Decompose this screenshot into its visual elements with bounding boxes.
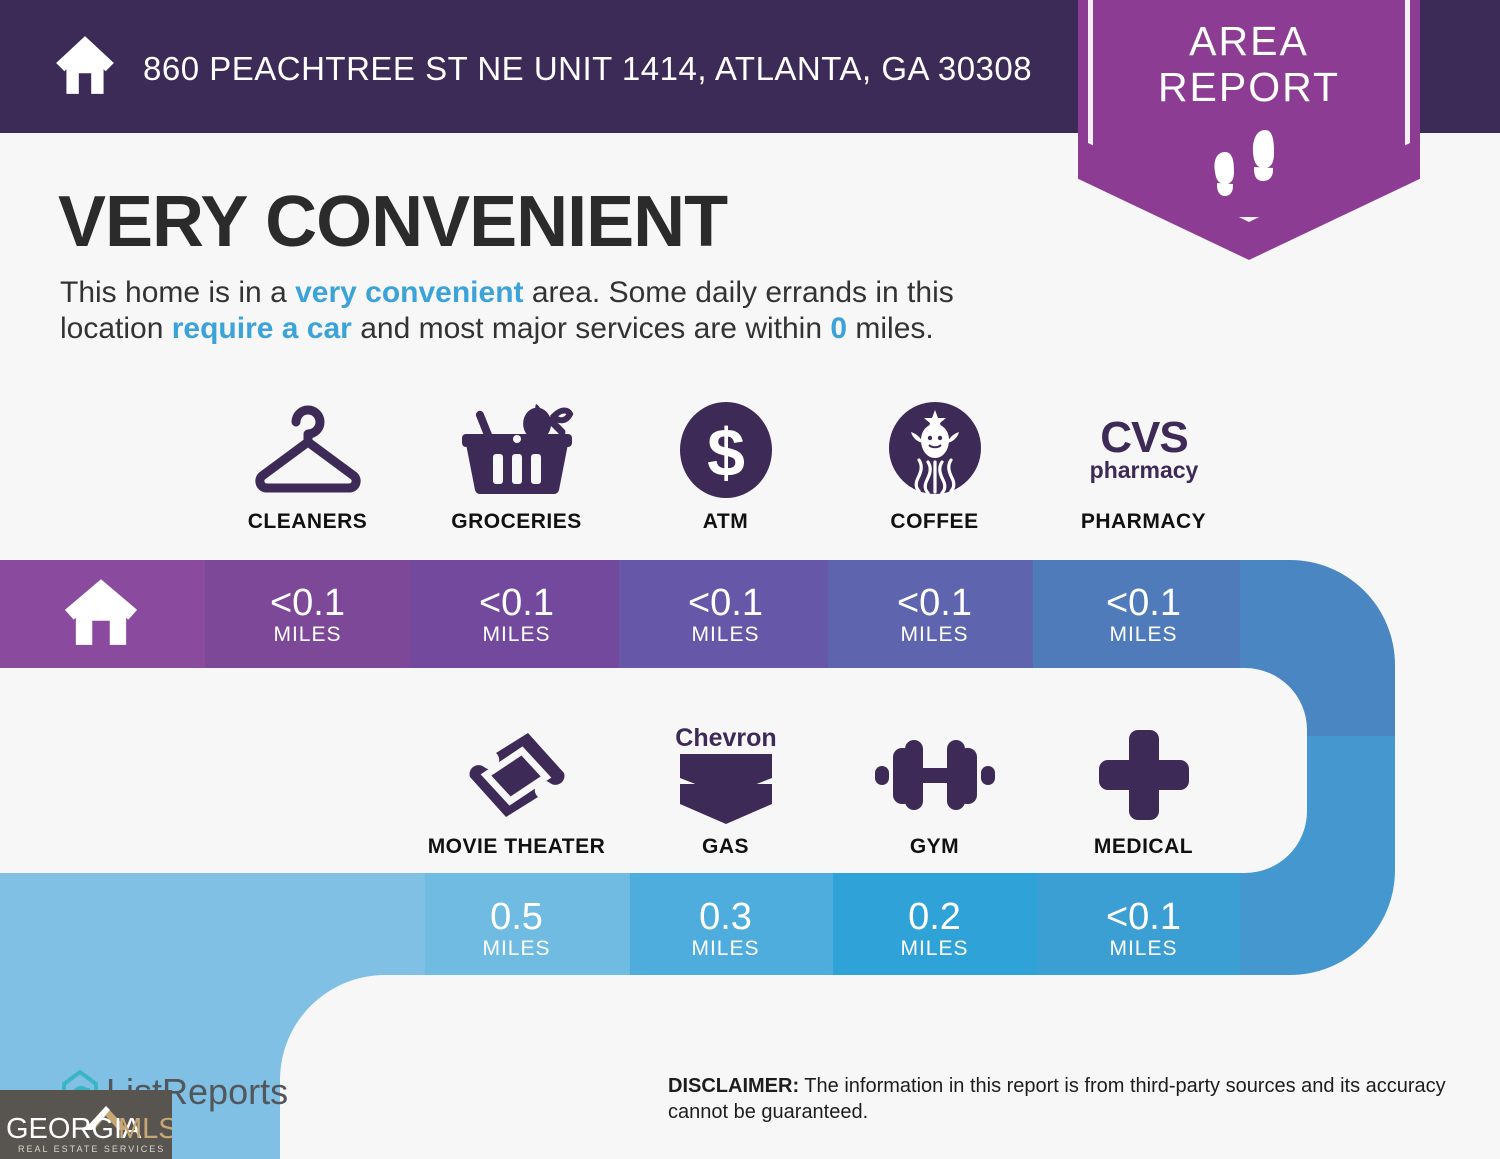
category-groceries: GROCERIES <box>414 400 619 534</box>
category-gym: GYM <box>832 725 1037 859</box>
category-label: PHARMACY <box>1041 510 1246 534</box>
disclaimer-label: DISCLAIMER: <box>668 1075 799 1097</box>
summary-part1: This home is in a <box>60 276 295 309</box>
movie-ticket-icon <box>414 725 619 825</box>
footprints-icon <box>1207 122 1291 200</box>
summary-highlight-2: require a car <box>172 312 352 345</box>
cvs-pharmacy-logo-icon: CVS pharmacy <box>1041 400 1246 500</box>
bar-segment-medical <box>1038 873 1240 978</box>
disclaimer: DISCLAIMER: The information in this repo… <box>668 1073 1458 1125</box>
grocery-basket-icon <box>414 400 619 500</box>
bar-home-icon <box>62 577 140 647</box>
bar-segment-atm <box>619 540 828 670</box>
hanger-icon <box>205 400 410 500</box>
georgia-mls-logo: GEORGIA MLS REAL ESTATE SERVICES <box>0 1090 172 1159</box>
category-cleaners: CLEANERS <box>205 400 410 534</box>
bar-segment-movie <box>425 873 630 978</box>
category-label: GYM <box>832 835 1037 859</box>
svg-text:$: $ <box>707 415 745 491</box>
svg-text:CVS: CVS <box>1100 413 1187 462</box>
category-label: CLEANERS <box>205 510 410 534</box>
area-report-badge: AREA REPORT <box>1078 0 1420 260</box>
bar-segment-pharmacy <box>1033 540 1240 670</box>
category-coffee: COFFEE <box>832 400 1037 534</box>
svg-text:pharmacy: pharmacy <box>1089 457 1198 483</box>
home-icon <box>52 32 118 98</box>
bar-segment-cleaners <box>205 540 410 670</box>
summary-part3: and most major services are within <box>352 312 831 345</box>
category-label: GAS <box>623 835 828 859</box>
badge-title-line1: AREA <box>1078 18 1420 64</box>
bar-segment-coffee <box>828 540 1033 670</box>
summary-highlight-3: 0 <box>830 312 847 345</box>
svg-text:Chevron: Chevron <box>675 724 776 752</box>
category-movie-theater: MOVIE THEATER <box>414 725 619 859</box>
summary-part4: miles. <box>847 312 934 345</box>
medical-cross-icon <box>1041 725 1246 825</box>
starbucks-logo-icon <box>832 400 1037 500</box>
category-label: COFFEE <box>832 510 1037 534</box>
mls-wordmark: MLS <box>118 1113 172 1145</box>
bar-segment-gas <box>630 873 833 978</box>
category-label: ATM <box>623 510 828 534</box>
bar-segment-turn-top <box>1240 540 1500 736</box>
category-gas: Chevron GAS <box>623 725 828 859</box>
bar-segment-groceries <box>410 540 619 670</box>
dollar-circle-icon: $ <box>623 400 828 500</box>
summary-highlight-1: very convenient <box>295 276 523 309</box>
page-title: VERY CONVENIENT <box>58 185 727 259</box>
badge-title-line2: REPORT <box>1078 64 1420 110</box>
category-label: MEDICAL <box>1041 835 1246 859</box>
summary-text: This home is in a very convenient area. … <box>60 275 1060 347</box>
chevron-logo-icon: Chevron <box>623 725 828 825</box>
header-address: 860 PEACHTREE ST NE UNIT 1414, ATLANTA, … <box>143 50 1032 88</box>
category-pharmacy: CVS pharmacy PHARMACY <box>1041 400 1246 534</box>
badge-title: AREA REPORT <box>1078 18 1420 110</box>
category-label: MOVIE THEATER <box>414 835 619 859</box>
category-medical: MEDICAL <box>1041 725 1246 859</box>
category-label: GROCERIES <box>414 510 619 534</box>
category-atm: $ ATM <box>623 400 828 534</box>
dumbbell-icon <box>832 725 1037 825</box>
georgia-tagline: REAL ESTATE SERVICES <box>18 1144 165 1154</box>
bar-segment-turn-bottom <box>1240 736 1500 976</box>
bar-segment-gym <box>833 873 1038 978</box>
